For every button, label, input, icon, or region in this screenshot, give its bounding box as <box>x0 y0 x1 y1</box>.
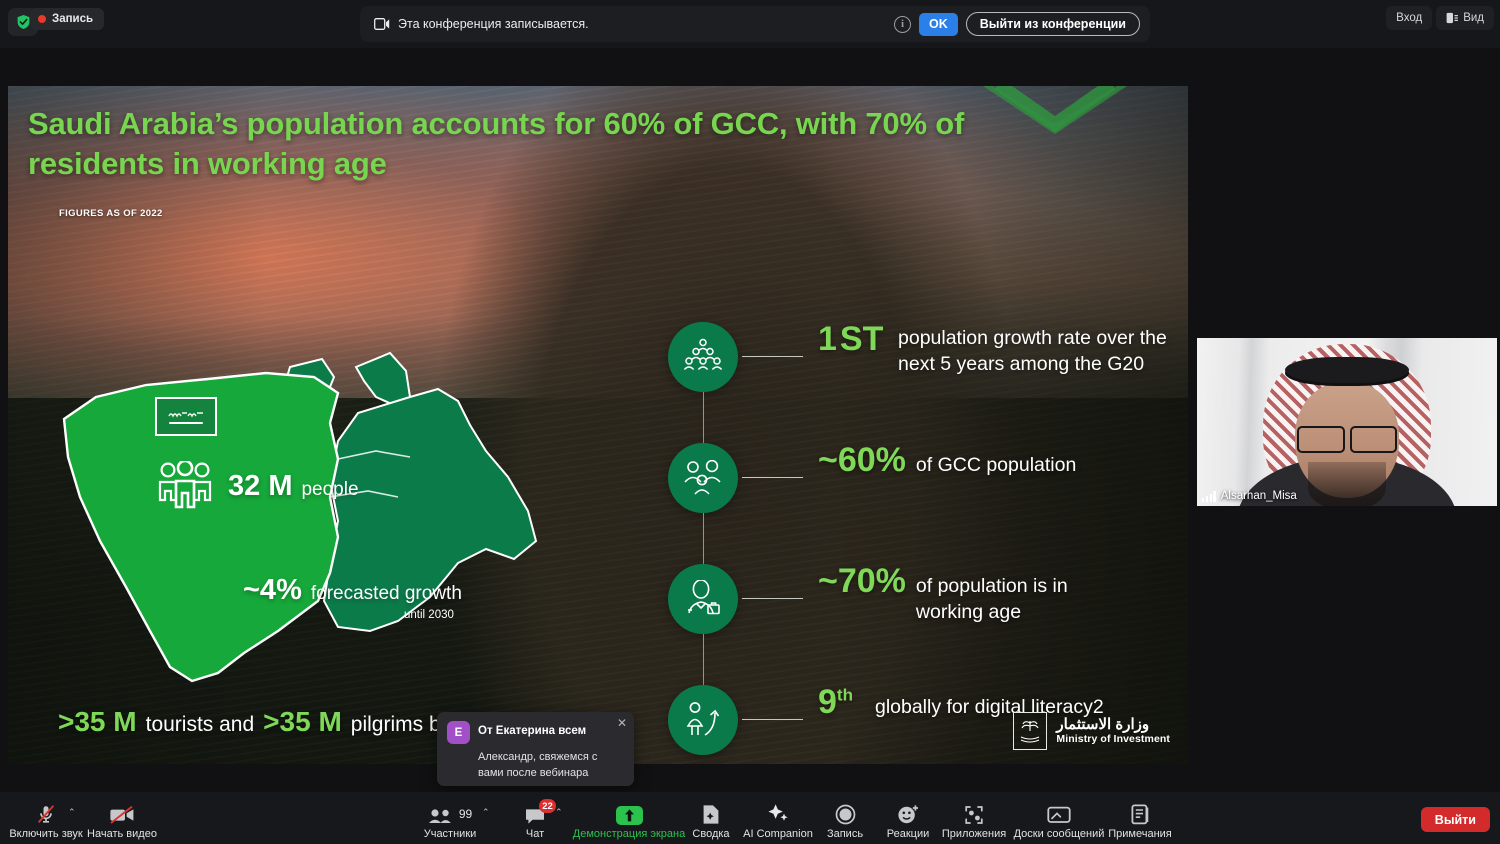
shared-screen-slide[interactable]: Saudi Arabia’s population accounts for 6… <box>8 86 1188 764</box>
toolbar-label-whiteboards: Доски сообщений <box>1014 828 1105 840</box>
share-screen-up-arrow-icon <box>616 803 643 825</box>
toolbar-item-participants[interactable]: 99 ⌃ Участники <box>404 803 496 840</box>
stat-vertical-line-3 <box>703 634 704 685</box>
igal-cord <box>1285 357 1409 383</box>
forecasted-growth-stat: ~4% forecasted growth until 2030 <box>243 574 462 621</box>
signal-bars-icon <box>1202 491 1216 502</box>
stat-text-1: 1 ST population growth rate over the nex… <box>818 322 1188 377</box>
worker-briefcase-icon <box>683 580 723 618</box>
mute-options-caret-icon[interactable]: ⌃ <box>68 807 76 818</box>
stat-ordinal-4: th <box>837 686 853 705</box>
toolbar-item-share-screen[interactable]: Демонстрация экрана <box>579 803 679 840</box>
toolbar-item-chat[interactable]: 22 ⌃ Чат <box>489 803 581 840</box>
stat-desc-1: population growth rate over the next 5 y… <box>898 326 1188 377</box>
stat-desc-2: of GCC population <box>916 453 1188 479</box>
camera-off-icon <box>109 803 135 825</box>
toolbar-item-notes[interactable]: Примечания <box>1094 803 1186 840</box>
toolbar-label-apps: Приложения <box>942 828 1006 840</box>
whiteboard-icon <box>1047 803 1071 825</box>
stats-list: 1 ST population growth rate over the nex… <box>668 322 1188 764</box>
close-icon[interactable]: ✕ <box>617 717 627 729</box>
stat-connector-3 <box>742 598 803 599</box>
stat-bubble-1 <box>668 322 738 392</box>
toolbar-label-record: Запись <box>827 828 863 840</box>
chat-toast-header: E От Екатерина всем <box>447 721 624 744</box>
stat-bubble-3 <box>668 564 738 634</box>
info-circle-icon[interactable]: i <box>894 16 911 33</box>
chat-sender-label: От Екатерина всем <box>478 721 586 737</box>
stat-connector-2 <box>742 477 803 478</box>
apps-grid-icon <box>963 803 985 825</box>
toolbar-label-notes: Примечания <box>1108 828 1172 840</box>
population-unit: people <box>301 479 358 501</box>
summary-document-icon <box>701 803 721 825</box>
pilgrims-value: >35 M <box>263 706 342 738</box>
tourists-value: >35 M <box>58 706 137 738</box>
layout-view-icon <box>1446 12 1458 24</box>
chat-bubble-icon: 22 <box>524 803 546 825</box>
recording-dot-icon <box>38 15 46 23</box>
record-circle-icon <box>835 803 856 825</box>
palm-swords-emblem <box>1019 718 1041 744</box>
flag-shahada-script <box>168 410 204 419</box>
three-people-icon <box>156 461 214 511</box>
chat-message-text: Александр, свяжемся с вами после вебинар… <box>478 750 624 781</box>
notification-text: Эта конференция записывается. <box>398 17 886 31</box>
slide-title: Saudi Arabia’s population accounts for 6… <box>28 104 1098 183</box>
population-stat: 32 M people <box>156 461 359 511</box>
ministry-name-english: Ministry of Investment <box>1056 733 1170 745</box>
sparkle-ai-icon <box>767 803 789 825</box>
flag-sword-icon <box>169 422 203 424</box>
stat-connector-1 <box>742 356 803 357</box>
stat-item-gcc-population: ~60% of GCC population <box>668 443 1188 564</box>
stat-item-growth-rate: 1 ST population growth rate over the nex… <box>668 322 1188 443</box>
view-button[interactable]: Вид <box>1436 6 1494 30</box>
stat-vertical-line-2 <box>703 513 704 564</box>
stat-text-3: ~70% of population is in working age <box>818 564 1188 625</box>
saudi-emblem-icon <box>1013 712 1047 750</box>
ministry-logo-text: وزارة الاستثمار Ministry of Investment <box>1056 717 1170 745</box>
stat-number-3: ~70% <box>818 564 906 598</box>
stat-number-1: 1 <box>818 322 837 356</box>
stat-vertical-line-1 <box>703 392 704 443</box>
ok-button[interactable]: OK <box>919 13 958 36</box>
toolbar-label-video: Начать видео <box>87 828 157 840</box>
participants-count: 99 <box>459 807 472 821</box>
two-adults-one-child-icon <box>683 460 723 496</box>
toolbar-label-chat: Чат <box>526 828 544 840</box>
shield-check-icon <box>16 14 31 30</box>
glasses-lens-left <box>1297 426 1345 453</box>
stat-desc-3: of population is in working age <box>916 574 1136 625</box>
stat-item-working-age: ~70% of population is in working age <box>668 564 1188 685</box>
toolbar-item-video[interactable]: Начать видео <box>76 803 168 840</box>
glasses-lens-right <box>1350 426 1398 453</box>
tourists-label: tourists and <box>146 713 255 737</box>
toolbar-label-summary: Сводка <box>692 828 729 840</box>
video-record-icon <box>374 18 390 30</box>
recording-indicator[interactable]: Запись <box>30 8 104 30</box>
stat-connector-4 <box>742 719 803 720</box>
stat-bubble-4 <box>668 685 738 755</box>
population-value: 32 M <box>228 470 292 503</box>
participant-name: Alsarhan_Misa <box>1221 490 1297 502</box>
ministry-name-arabic: وزارة الاستثمار <box>1056 717 1149 733</box>
meeting-top-bar: Запись Эта конференция записывается. i O… <box>0 0 1500 48</box>
participant-name-overlay: Alsarhan_Misa <box>1202 490 1297 502</box>
stat-ordinal-1: ST <box>840 322 883 356</box>
stat-text-2: ~60% of GCC population <box>818 443 1188 479</box>
microphone-muted-icon <box>35 803 57 825</box>
toolbar-label-participants: Участники <box>424 828 477 840</box>
view-label: Вид <box>1463 12 1484 24</box>
chat-unread-badge: 22 <box>539 799 556 813</box>
recording-label: Запись <box>52 13 93 25</box>
top-right-buttons: Вход Вид <box>1386 6 1494 30</box>
exit-meeting-button[interactable]: Выйти <box>1421 807 1490 832</box>
growth-label: forecasted growth <box>311 583 462 605</box>
chat-message-toast[interactable]: ✕ E От Екатерина всем Александр, свяжемс… <box>437 712 634 786</box>
stat-bubble-2 <box>668 443 738 513</box>
login-button[interactable]: Вход <box>1386 6 1432 30</box>
login-label: Вход <box>1396 12 1422 24</box>
ministry-of-investment-logo: وزارة الاستثمار Ministry of Investment <box>1013 712 1170 750</box>
glasses <box>1297 424 1397 454</box>
participant-video-thumbnail[interactable]: Alsarhan_Misa <box>1197 338 1497 506</box>
stat-number-4: 9th <box>818 685 853 719</box>
smiley-plus-icon <box>897 803 920 825</box>
woman-growth-arrow-icon <box>683 701 723 739</box>
growth-value: ~4% <box>243 574 302 607</box>
toolbar-label-mute: Включить звук <box>9 828 82 840</box>
zoom-meeting-window: Запись Эта конференция записывается. i O… <box>0 0 1500 844</box>
beard <box>1308 462 1386 506</box>
meeting-toolbar: ⌃ Включить звук Начать видео 99 <box>0 792 1500 844</box>
chat-options-caret-icon[interactable]: ⌃ <box>555 807 563 818</box>
growth-until-label: until 2030 <box>243 609 462 621</box>
gcc-map: 32 M people ~4% forecasted growth until … <box>38 301 618 701</box>
recording-notification-bar: Эта конференция записывается. i OK Выйти… <box>360 6 1150 42</box>
participants-icon: 99 <box>428 803 472 825</box>
figures-as-of-label: FIGURES AS OF 2022 <box>59 208 163 219</box>
notes-icon <box>1131 803 1150 825</box>
avatar: E <box>447 721 470 744</box>
leave-meeting-button[interactable]: Выйти из конференции <box>966 12 1140 36</box>
people-pyramid-icon <box>683 338 723 376</box>
toolbar-label-reactions: Реакции <box>887 828 930 840</box>
stat-number-2: ~60% <box>818 443 906 477</box>
saudi-flag-icon <box>155 397 217 436</box>
